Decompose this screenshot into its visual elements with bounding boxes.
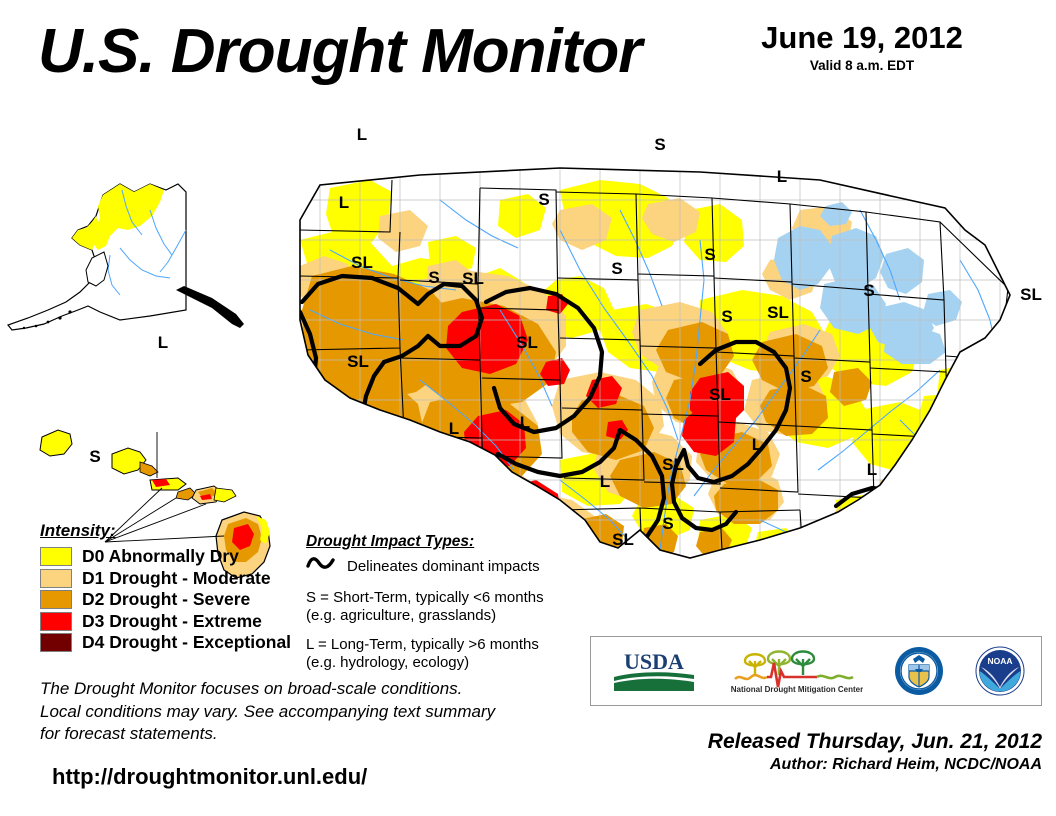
header: U.S. Drought Monitor June 19, 2012 Valid… (0, 0, 1056, 92)
release-date: Released Thursday, Jun. 21, 2012 (590, 730, 1042, 754)
map-impact-label-sl-23: SL (612, 530, 634, 549)
impact-types-title: Drought Impact Types: (306, 533, 586, 551)
map-valid-time: Valid 8 a.m. EDT (742, 58, 982, 73)
map-impact-label-l-2: L (777, 167, 787, 186)
map-impact-label-sl-14: SL (347, 352, 369, 371)
intensity-swatch-d3 (40, 612, 72, 631)
map-impact-label-s-17: S (800, 367, 811, 386)
map-impact-label-sl-21: SL (662, 455, 684, 474)
intensity-label-d1: D1 Drought - Moderate (82, 568, 271, 589)
squiggle-icon (306, 555, 336, 578)
map-impact-label-s-12: S (863, 281, 874, 300)
intensity-swatch-d4 (40, 633, 72, 652)
intensity-row-d1: D1 Drought - Moderate (40, 568, 310, 590)
intensity-legend: Intensity: D0 Abnormally DryD1 Drought -… (40, 521, 310, 654)
intensity-legend-title: Intensity: (40, 521, 310, 541)
intensity-label-d0: D0 Abnormally Dry (82, 546, 239, 567)
intensity-label-d2: D2 Drought - Severe (82, 589, 250, 610)
intensity-legend-rows: D0 Abnormally DryD1 Drought - ModerateD2… (40, 546, 310, 654)
intensity-row-d3: D3 Drought - Extreme (40, 611, 310, 633)
map-impact-label-sl-13: SL (1020, 285, 1042, 304)
release-info: Released Thursday, Jun. 21, 2012 Author:… (590, 730, 1042, 774)
map-impact-label-sl-15: SL (516, 333, 538, 352)
map-impact-label-sl-11: SL (767, 303, 789, 322)
intensity-row-d0: D0 Abnormally Dry (40, 546, 310, 568)
map-impact-label-s-8: S (611, 259, 622, 278)
svg-text:National Drought Mitigation Ce: National Drought Mitigation Center (731, 685, 863, 694)
droughtmonitor-url[interactable]: http://droughtmonitor.unl.edu/ (52, 764, 367, 790)
map-impact-label-l-19: L (520, 413, 530, 432)
delineation-row: Delineates dominant impacts (306, 555, 586, 578)
map-impact-label-l-3: L (339, 193, 349, 212)
intensity-label-d4: D4 Drought - Exceptional (82, 632, 291, 653)
drought-map[interactable]: LSLLSSLSSLSSSSLSSLSLSLSLSLLSSLLSLLLSL (0, 80, 1056, 580)
ndmc-logo[interactable]: National Drought Mitigation Center (731, 645, 863, 697)
long-term-line-2: (e.g. hydrology, ecology) (306, 654, 586, 672)
short-term-line-1: S = Short-Term, typically <6 months (306, 589, 586, 607)
map-date: June 19, 2012 (742, 22, 982, 55)
map-impact-label-s-1: S (654, 135, 665, 154)
short-term-description: S = Short-Term, typically <6 months (e.g… (306, 589, 586, 625)
map-impact-label-s-9: S (704, 245, 715, 264)
alaska-inset (8, 184, 244, 330)
usdc-seal[interactable] (893, 645, 945, 697)
intensity-row-d4: D4 Drought - Exceptional (40, 632, 310, 654)
map-impact-label-s-20: S (662, 514, 673, 533)
disclaimer-line-3: for forecast statements. (40, 723, 580, 746)
map-impact-label-s-4: S (538, 190, 549, 209)
map-impact-label-l-0: L (357, 125, 367, 144)
intensity-swatch-d1 (40, 569, 72, 588)
map-impact-label-sl-16: SL (709, 385, 731, 404)
intensity-swatch-d2 (40, 590, 72, 609)
release-author: Author: Richard Heim, NCDC/NOAA (590, 756, 1042, 774)
date-block: June 19, 2012 Valid 8 a.m. EDT (742, 22, 982, 73)
map-impact-label-s-26: S (89, 447, 100, 466)
map-impact-label-l-22: L (600, 472, 610, 491)
map-impact-label-sl-5: SL (351, 253, 373, 272)
map-impact-label-sl-7: SL (462, 269, 484, 288)
short-term-line-2: (e.g. agriculture, grasslands) (306, 607, 586, 625)
map-impact-label-l-27: L (158, 333, 168, 352)
disclaimer-line-1: The Drought Monitor focuses on broad-sca… (40, 678, 580, 701)
disclaimer-line-2: Local conditions may vary. See accompany… (40, 701, 580, 724)
map-impact-label-s-6: S (428, 268, 439, 287)
page-title: U.S. Drought Monitor (38, 16, 641, 87)
sponsor-logo-panel: USDA (590, 636, 1042, 706)
intensity-label-d3: D3 Drought - Extreme (82, 611, 262, 632)
intensity-swatch-d0 (40, 547, 72, 566)
map-impact-label-l-25: L (867, 460, 877, 479)
impact-types-legend: Drought Impact Types: Delineates dominan… (306, 533, 586, 672)
map-impact-label-l-24: L (752, 435, 762, 454)
map-impact-label-s-10: S (721, 307, 732, 326)
map-impact-label-l-18: L (449, 419, 459, 438)
noaa-logo[interactable]: NOAA (974, 645, 1026, 697)
svg-text:NOAA: NOAA (988, 656, 1013, 666)
usda-logo[interactable]: USDA (606, 647, 702, 695)
long-term-description: L = Long-Term, typically >6 months (e.g.… (306, 636, 586, 672)
long-term-line-1: L = Long-Term, typically >6 months (306, 636, 586, 654)
disclaimer-text: The Drought Monitor focuses on broad-sca… (40, 678, 580, 746)
delineation-label: Delineates dominant impacts (347, 558, 540, 575)
svg-text:USDA: USDA (624, 649, 684, 674)
intensity-row-d2: D2 Drought - Severe (40, 589, 310, 611)
